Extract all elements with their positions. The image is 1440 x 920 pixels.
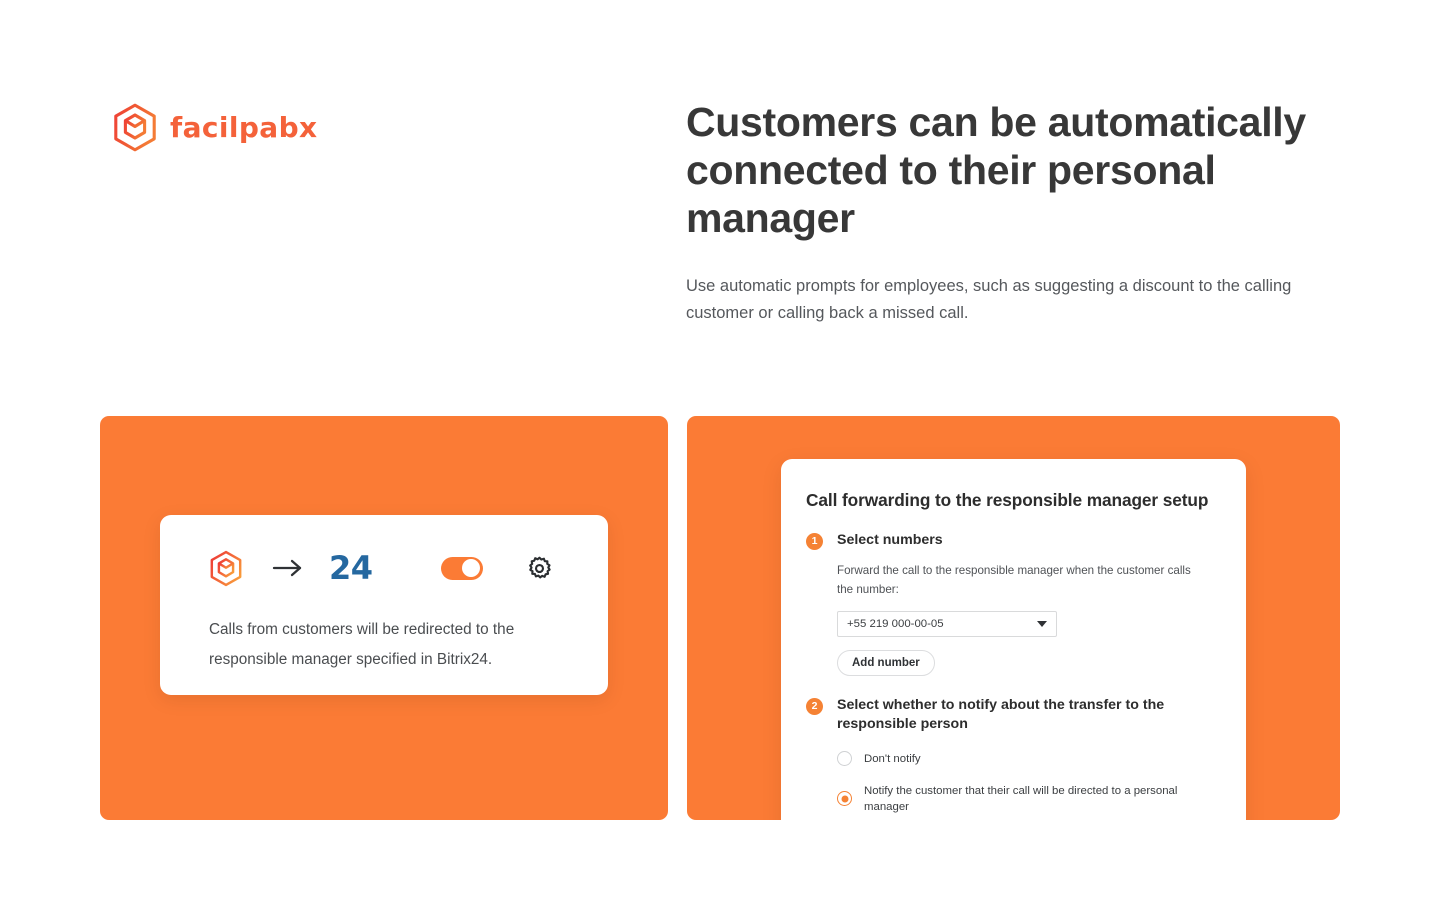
bitrix-redirect-card: 24 Calls from customers will be redirect…	[160, 515, 608, 695]
setup-step-2-body: Don't notify Notify the customer that th…	[837, 751, 1222, 815]
bitrix24-label: 24	[329, 552, 373, 584]
setup-step-1-body: Forward the call to the responsible mana…	[837, 561, 1222, 676]
hexagon-cube-logo-icon	[209, 550, 243, 587]
add-number-button[interactable]: Add number	[837, 650, 935, 676]
notify-option-notify-customer[interactable]: Notify the customer that their call will…	[837, 783, 1222, 815]
page-subtitle: Use automatic prompts for employees, suc…	[686, 273, 1326, 327]
notify-option-dont-notify[interactable]: Don't notify	[837, 751, 1222, 767]
right-feature-panel: Call forwarding to the responsible manag…	[687, 416, 1340, 820]
step-badge: 1	[806, 533, 823, 550]
brand-logo[interactable]: facilpabx	[112, 103, 318, 152]
call-forwarding-setup-card: Call forwarding to the responsible manag…	[781, 459, 1246, 820]
bitrix-redirect-card-row: 24	[209, 545, 560, 591]
phone-number-select[interactable]: +55 219 000-00-05	[837, 611, 1057, 637]
setup-step-1: 1 Select numbers	[806, 531, 1222, 551]
page-title: Customers can be automatically connected…	[686, 98, 1326, 242]
phone-number-select-value: +55 219 000-00-05	[847, 618, 944, 630]
step-help-text: Forward the call to the responsible mana…	[837, 561, 1195, 599]
arrow-right-icon	[272, 558, 304, 578]
step-title: Select numbers	[837, 531, 943, 551]
enable-redirect-toggle[interactable]	[441, 557, 483, 580]
radio-label: Don't notify	[864, 751, 921, 767]
bitrix-redirect-description: Calls from customers will be redirected …	[209, 615, 560, 675]
hexagon-cube-logo-icon	[112, 103, 158, 152]
hero-section: Customers can be automatically connected…	[686, 98, 1326, 327]
radio-button	[837, 751, 852, 766]
radio-label: Notify the customer that their call will…	[864, 783, 1222, 815]
toggle-knob	[462, 559, 480, 577]
left-feature-panel: 24 Calls from customers will be redirect…	[100, 416, 668, 820]
step-title: Select whether to notify about the trans…	[837, 696, 1222, 735]
step-badge: 2	[806, 698, 823, 715]
gear-icon[interactable]	[526, 555, 553, 582]
page-root: facilpabx Customers can be automatically…	[0, 0, 1440, 920]
setup-card-title: Call forwarding to the responsible manag…	[806, 489, 1222, 511]
radio-button-selected	[837, 791, 852, 806]
chevron-down-icon	[1037, 621, 1047, 627]
setup-step-2: 2 Select whether to notify about the tra…	[806, 696, 1222, 735]
brand-wordmark: facilpabx	[170, 114, 318, 142]
